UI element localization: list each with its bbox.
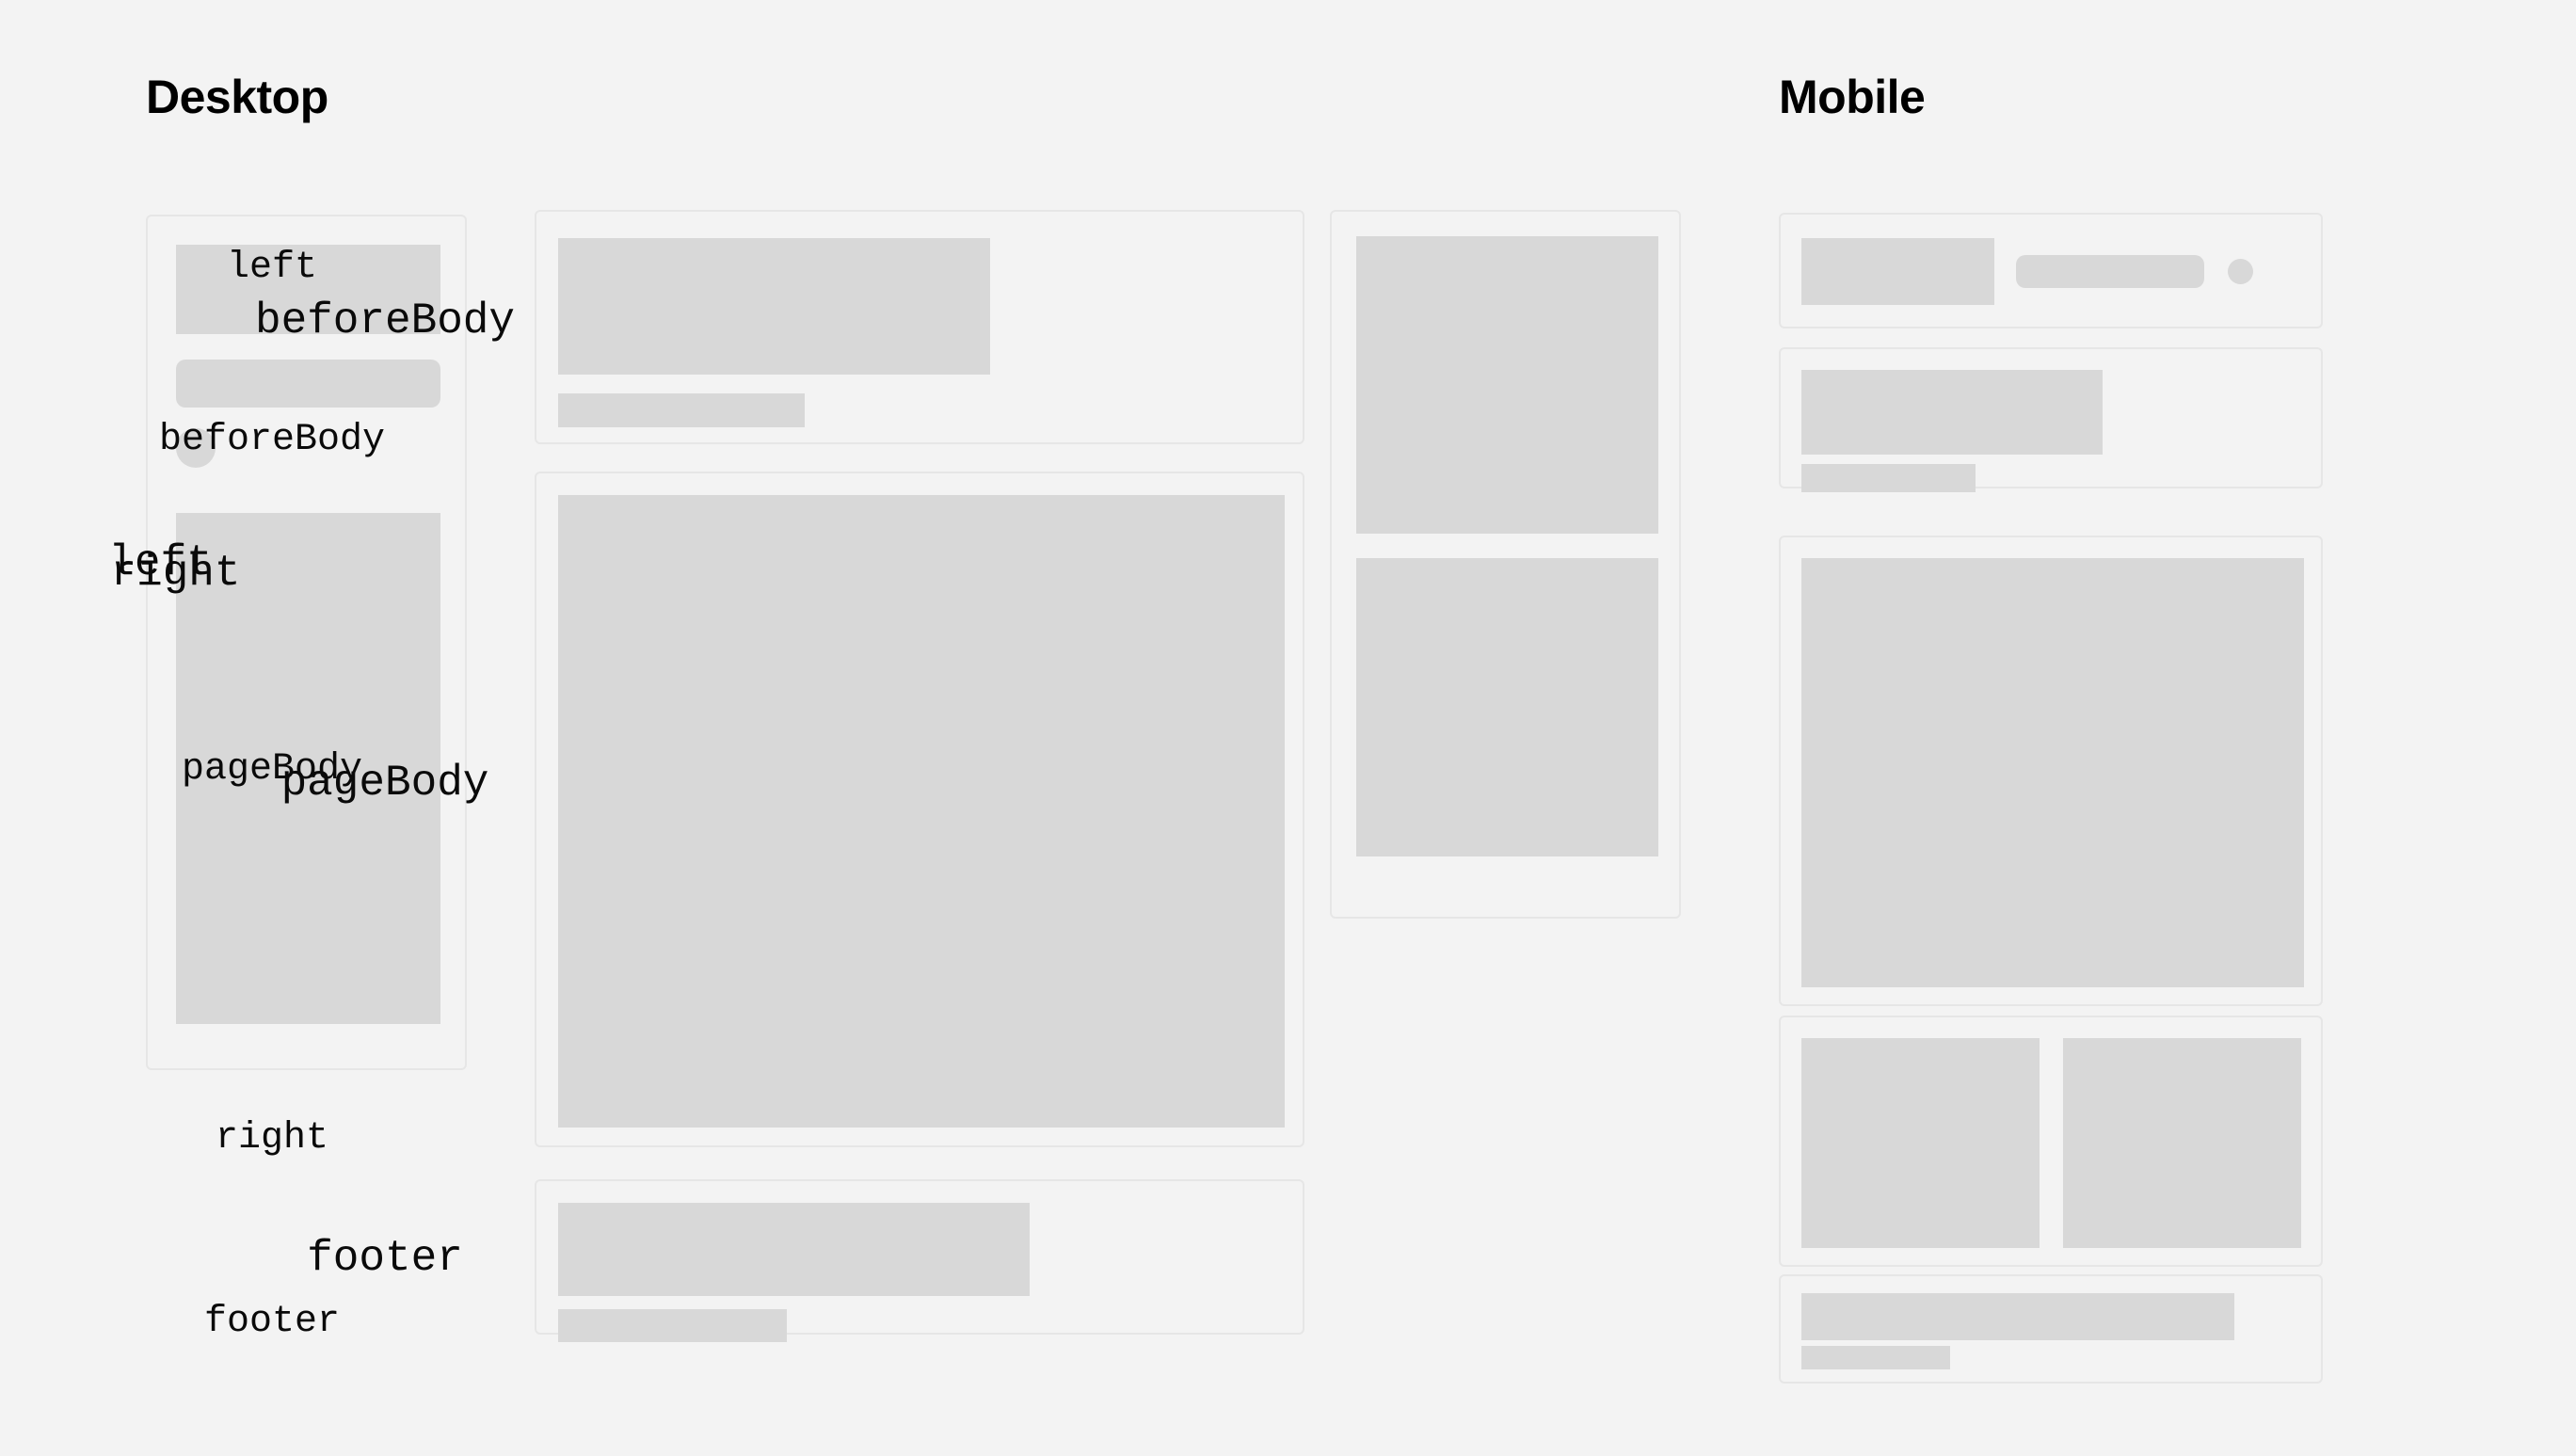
skeleton-block-bar <box>2016 255 2204 288</box>
section-title-desktop: Desktop <box>146 73 328 120</box>
skeleton-block-bar <box>558 393 805 427</box>
skeleton-block-bar <box>1801 464 1976 492</box>
desktop-footer-panel[interactable] <box>535 1179 1304 1335</box>
mobile-footer-slot-label: footer <box>0 1304 544 1341</box>
desktop-pagebody-panel[interactable] <box>535 472 1304 1147</box>
skeleton-block-image <box>176 245 440 334</box>
mobile-beforebody-panel[interactable] <box>1779 347 2323 488</box>
skeleton-block-bottom <box>1356 558 1658 856</box>
skeleton-block-image <box>1801 1293 2234 1340</box>
mobile-pagebody-panel[interactable] <box>1779 536 2323 1006</box>
section-title-mobile: Mobile <box>1779 73 1925 120</box>
mobile-right-panel[interactable] <box>1779 1016 2323 1267</box>
mobile-right-slot-label: right <box>0 1120 544 1158</box>
skeleton-block-avatar <box>176 428 216 468</box>
skeleton-block-main <box>558 495 1285 1128</box>
skeleton-block-left <box>1801 1038 2040 1248</box>
skeleton-block-bar <box>558 1309 787 1342</box>
mobile-left-panel[interactable] <box>1779 213 2323 328</box>
skeleton-block-avatar <box>2228 259 2253 284</box>
skeleton-block-main <box>1801 558 2304 987</box>
desktop-beforebody-panel[interactable] <box>535 210 1304 444</box>
skeleton-block-top <box>1356 236 1658 534</box>
skeleton-block-bar <box>176 360 440 408</box>
skeleton-block-image <box>1801 238 1994 305</box>
layout-preview-canvas: Desktop left beforeBody pageBody footer … <box>0 0 2576 1456</box>
skeleton-block-tall <box>176 513 440 1024</box>
mobile-footer-panel[interactable] <box>1779 1274 2323 1384</box>
skeleton-block-image <box>1801 370 2103 455</box>
skeleton-block-image <box>558 1203 1030 1296</box>
desktop-left-panel[interactable] <box>146 215 467 1070</box>
skeleton-block-image <box>558 238 990 375</box>
skeleton-block-bar <box>1801 1346 1950 1369</box>
skeleton-block-right <box>2063 1038 2301 1248</box>
desktop-right-panel[interactable] <box>1330 210 1681 919</box>
